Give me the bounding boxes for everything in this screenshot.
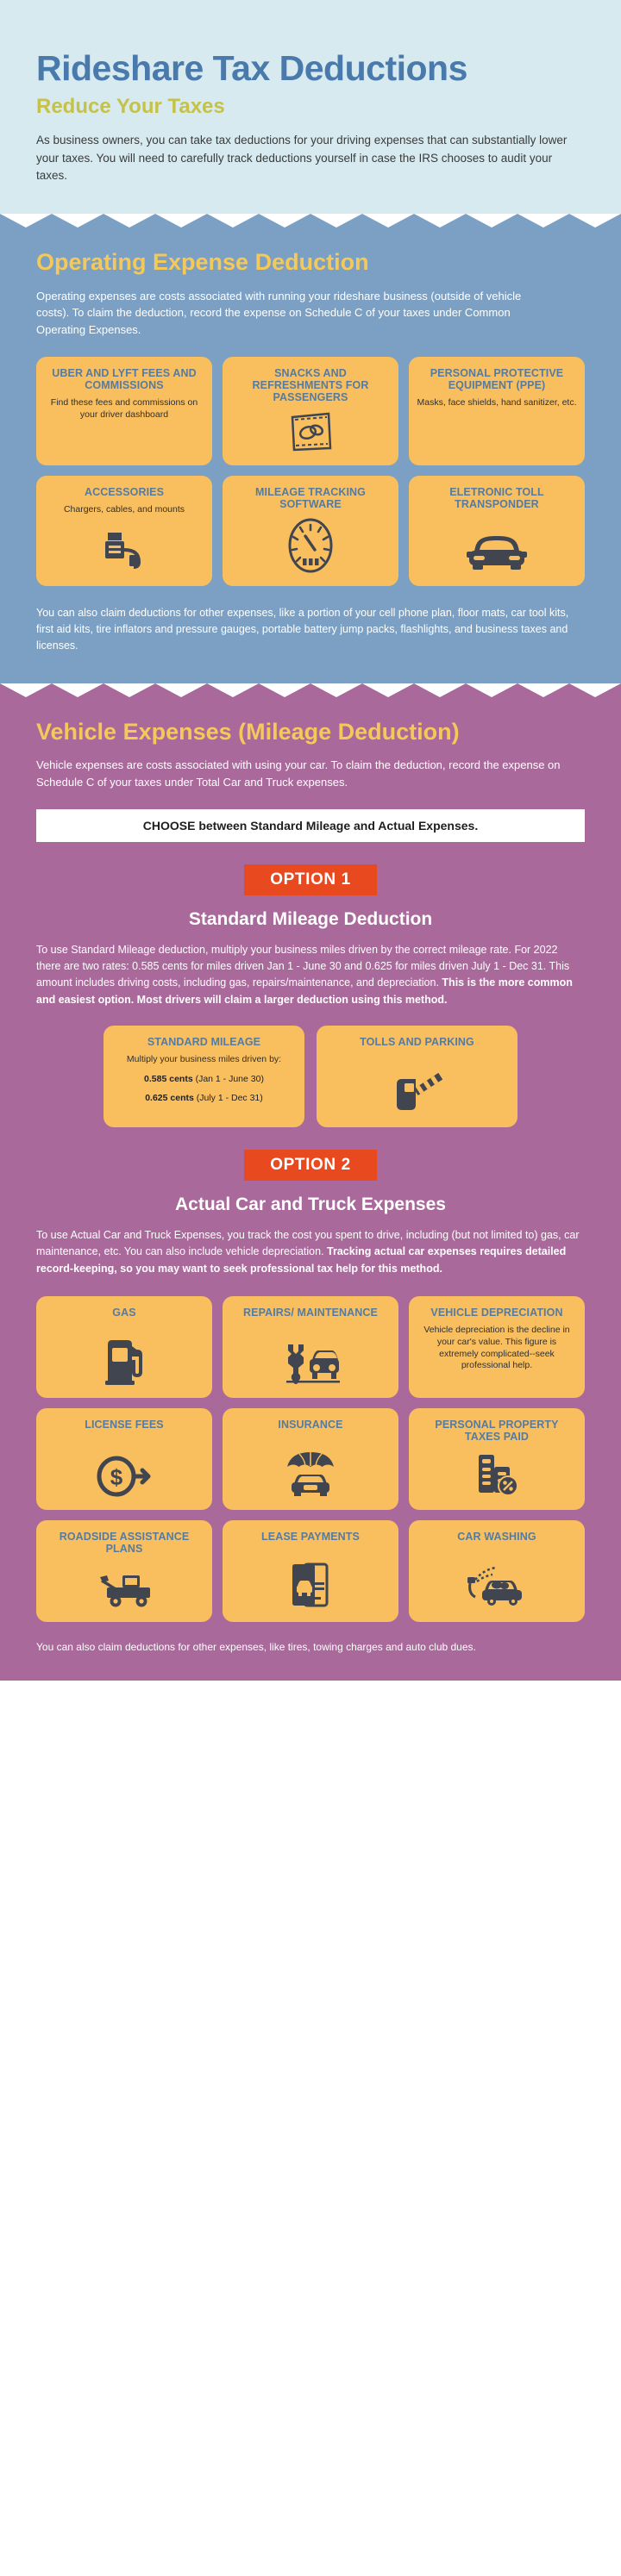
card-tolls-and-parking: TOLLS AND PARKING xyxy=(317,1026,517,1127)
card-ppe: PERSONAL PROTECTIVE EQUIPMENT (PPE) Mask… xyxy=(409,357,585,465)
card-mileage-tracking-software: MILEAGE TRACKING SOFTWARE xyxy=(223,476,398,586)
speedometer-icon xyxy=(286,510,335,574)
umbrella-car-icon xyxy=(282,1441,339,1498)
mileage-rate-1-value: 0.585 cents xyxy=(144,1074,193,1084)
card-vehicle-depreciation: VEHICLE DEPRECIATION Vehicle depreciatio… xyxy=(409,1296,585,1398)
option1-body: To use Standard Mileage deduction, multi… xyxy=(36,942,585,1009)
car-wash-icon xyxy=(466,1553,528,1610)
operating-expense-section: Operating Expense Deduction Operating ex… xyxy=(0,228,621,683)
mileage-rate-1-period: (Jan 1 - June 30) xyxy=(193,1074,264,1084)
option2-badge: OPTION 2 xyxy=(244,1150,376,1181)
mileage-rate-2-value: 0.625 cents xyxy=(145,1093,194,1103)
card-title: STANDARD MILEAGE xyxy=(147,1036,260,1048)
charger-cable-icon xyxy=(101,522,147,574)
card-title: ELETRONIC TOLL TRANSPONDER xyxy=(417,486,577,510)
card-title: ACCESSORIES xyxy=(85,486,164,498)
card-repairs-maintenance: REPAIRS/ MAINTENANCE xyxy=(223,1296,398,1398)
card-snacks-refreshments: SNACKS AND REFRESHMENTS FOR PASSENGERS xyxy=(223,357,398,465)
option2-heading: Actual Car and Truck Expenses xyxy=(36,1194,585,1215)
operating-section-title: Operating Expense Deduction xyxy=(36,250,585,276)
card-license-fees: LICENSE FEES $ xyxy=(36,1408,212,1510)
card-title: VEHICLE DEPRECIATION xyxy=(430,1307,562,1319)
snack-bag-icon xyxy=(287,403,334,453)
card-title: TOLLS AND PARKING xyxy=(360,1036,474,1048)
zigzag-divider-bottom xyxy=(0,683,621,697)
card-title: UBER AND LYFT FEES AND COMMISSIONS xyxy=(44,367,204,391)
option2-body: To use Actual Car and Truck Expenses, yo… xyxy=(36,1227,585,1277)
option2-badge-wrap: OPTION 2 xyxy=(36,1150,585,1181)
card-title: REPAIRS/ MAINTENANCE xyxy=(243,1307,378,1319)
toll-gate-icon xyxy=(390,1060,445,1115)
mileage-rate-2: 0.625 cents (July 1 - Dec 31) xyxy=(145,1093,263,1105)
vehicle-expenses-section: Vehicle Expenses (Mileage Deduction) Veh… xyxy=(0,697,621,1681)
tax-documents-icon xyxy=(474,1443,520,1498)
card-standard-mileage: STANDARD MILEAGE Multiply your business … xyxy=(103,1026,304,1127)
card-insurance: INSURANCE xyxy=(223,1408,398,1510)
operating-footer-note: You can also claim deductions for other … xyxy=(36,605,585,653)
card-car-washing: CAR WASHING xyxy=(409,1520,585,1622)
card-title: LICENSE FEES xyxy=(85,1419,164,1431)
choose-banner: CHOOSE between Standard Mileage and Actu… xyxy=(36,809,585,842)
card-description: Find these fees and commissions on your … xyxy=(44,397,204,421)
lease-document-icon xyxy=(285,1553,336,1610)
card-title: GAS xyxy=(112,1307,135,1319)
card-personal-property-taxes: PERSONAL PROPERTY TAXES PAID xyxy=(409,1408,585,1510)
mileage-rate-1: 0.585 cents (Jan 1 - June 30) xyxy=(144,1074,264,1086)
card-roadside-assistance: ROADSIDE ASSISTANCE PLANS xyxy=(36,1520,212,1622)
card-description: Multiply your business miles driven by: xyxy=(127,1054,281,1066)
card-description: Chargers, cables, and mounts xyxy=(64,504,185,516)
gas-pump-icon xyxy=(101,1329,147,1386)
page-subtitle: Reduce Your Taxes xyxy=(36,96,585,118)
card-title: MILEAGE TRACKING SOFTWARE xyxy=(230,486,391,510)
card-title: PERSONAL PROTECTIVE EQUIPMENT (PPE) xyxy=(417,367,577,391)
dollar-arrow-icon: $ xyxy=(96,1448,153,1498)
card-title: ROADSIDE ASSISTANCE PLANS xyxy=(44,1531,204,1555)
option2-card-grid: GAS REPAIRS/ MAINTENANCE xyxy=(36,1296,585,1622)
card-accessories: ACCESSORIES Chargers, cables, and mounts xyxy=(36,476,212,586)
svg-text:$: $ xyxy=(110,1464,123,1490)
vehicle-section-title: Vehicle Expenses (Mileage Deduction) xyxy=(36,720,585,745)
header-section: Rideshare Tax Deductions Reduce Your Tax… xyxy=(0,0,621,214)
card-title: CAR WASHING xyxy=(457,1531,536,1543)
vehicle-footer-note: You can also claim deductions for other … xyxy=(36,1639,585,1655)
vehicle-section-body: Vehicle expenses are costs associated wi… xyxy=(36,757,585,791)
option1-badge: OPTION 1 xyxy=(244,864,376,895)
option1-card-grid: STANDARD MILEAGE Multiply your business … xyxy=(36,1026,585,1127)
card-title: PERSONAL PROPERTY TAXES PAID xyxy=(417,1419,577,1443)
operating-section-body: Operating expenses are costs associated … xyxy=(36,288,554,339)
card-gas: GAS xyxy=(36,1296,212,1398)
card-title: INSURANCE xyxy=(278,1419,342,1431)
option1-badge-wrap: OPTION 1 xyxy=(36,864,585,895)
wrench-car-icon xyxy=(279,1332,342,1386)
card-electronic-toll-transponder: ELETRONIC TOLL TRANSPONDER xyxy=(409,476,585,586)
mileage-rate-2-period: (July 1 - Dec 31) xyxy=(194,1093,263,1103)
tow-truck-icon xyxy=(93,1558,155,1610)
card-title: LEASE PAYMENTS xyxy=(261,1531,360,1543)
car-front-icon xyxy=(466,522,528,574)
card-title: SNACKS AND REFRESHMENTS FOR PASSENGERS xyxy=(230,367,391,403)
card-description: Vehicle depreciation is the decline in y… xyxy=(417,1325,577,1372)
zigzag-divider-top xyxy=(0,214,621,228)
operating-card-grid: UBER AND LYFT FEES AND COMMISSIONS Find … xyxy=(36,357,585,586)
page-title: Rideshare Tax Deductions xyxy=(36,50,585,87)
card-lease-payments: LEASE PAYMENTS xyxy=(223,1520,398,1622)
option1-heading: Standard Mileage Deduction xyxy=(36,909,585,930)
card-uber-lyft-fees: UBER AND LYFT FEES AND COMMISSIONS Find … xyxy=(36,357,212,465)
header-intro-text: As business owners, you can take tax ded… xyxy=(36,132,585,184)
card-description: Masks, face shields, hand sanitizer, etc… xyxy=(417,397,576,409)
infographic-root: Rideshare Tax Deductions Reduce Your Tax… xyxy=(0,0,621,1681)
